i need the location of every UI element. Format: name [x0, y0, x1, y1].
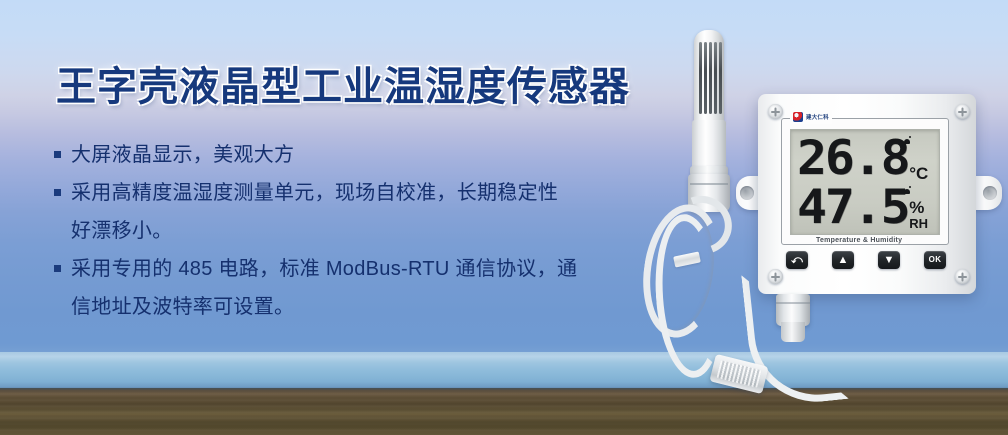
list-item-continuation: 好漂移小。 — [54, 214, 654, 248]
page-title: 王字壳液晶型工业温湿度传感器 — [56, 54, 630, 112]
screw-icon — [955, 269, 970, 284]
product-photo: 建大仁科 26.8 °C 47.5 % RH — [630, 8, 1008, 428]
lcd-temperature-row: 26.8 °C — [795, 133, 936, 183]
sensor-probe-body — [692, 120, 726, 172]
screw-icon — [955, 104, 970, 119]
list-item: 大屏液晶显示，美观大方 — [54, 138, 654, 172]
lcd-humidity-row: 47.5 % RH — [795, 180, 936, 232]
list-item-continuation: 信地址及波特率可设置。 — [54, 290, 654, 324]
temperature-value: 26.8 — [797, 135, 908, 183]
mounting-hole-icon — [740, 186, 754, 200]
humidity-unit-suffix: RH — [909, 217, 928, 231]
brand-logo-icon — [793, 112, 803, 122]
feature-list: 大屏液晶显示，美观大方 采用高精度温湿度测量单元，现场自校准，长期稳定性 好漂移… — [54, 138, 654, 328]
list-item: 采用专用的 485 电路，标准 ModBus-RTU 通信协议，通 — [54, 252, 654, 286]
screw-icon — [768, 104, 783, 119]
mounting-ear-right — [972, 176, 1002, 210]
list-item-label: 大屏液晶显示，美观大方 — [71, 138, 294, 172]
lcd-screen: 26.8 °C 47.5 % RH — [790, 129, 940, 235]
list-item-label: 采用高精度温湿度测量单元，现场自校准，长期稳定性 — [71, 176, 558, 210]
ok-button[interactable]: OK — [924, 251, 946, 269]
list-item-label: 采用专用的 485 电路，标准 ModBus-RTU 通信协议，通 — [71, 252, 577, 286]
bullet-marker-icon — [54, 151, 61, 158]
sensor-probe-cap — [694, 30, 724, 126]
bullet-marker-icon — [54, 265, 61, 272]
humidity-unit-group: % RH — [909, 199, 928, 231]
list-item-label: 信地址及波特率可设置。 — [71, 290, 294, 324]
screw-icon — [768, 269, 783, 284]
cable-gland-neck — [781, 322, 805, 342]
brand-mark: 建大仁科 — [790, 110, 832, 124]
down-button[interactable]: ▼ — [878, 251, 900, 269]
product-banner: 王字壳液晶型工业温湿度传感器 大屏液晶显示，美观大方 采用高精度温湿度测量单元，… — [0, 0, 1008, 435]
faceplate-label: Temperature & Humidity — [812, 237, 906, 244]
list-item: 采用高精度温湿度测量单元，现场自校准，长期稳定性 — [54, 176, 654, 210]
mounting-hole-icon — [983, 186, 997, 200]
list-item-label: 好漂移小。 — [71, 214, 173, 248]
bullet-marker-icon — [54, 189, 61, 196]
humidity-unit: % — [909, 199, 924, 216]
bell-icon — [903, 136, 912, 145]
brand-name: 建大仁科 — [806, 113, 829, 121]
bell-icon — [903, 186, 912, 195]
back-button[interactable]: ⤺ — [786, 251, 808, 269]
button-row: ⤺ ▲ ▼ OK — [786, 251, 946, 269]
up-button[interactable]: ▲ — [832, 251, 854, 269]
humidity-value: 47.5 — [797, 184, 908, 232]
